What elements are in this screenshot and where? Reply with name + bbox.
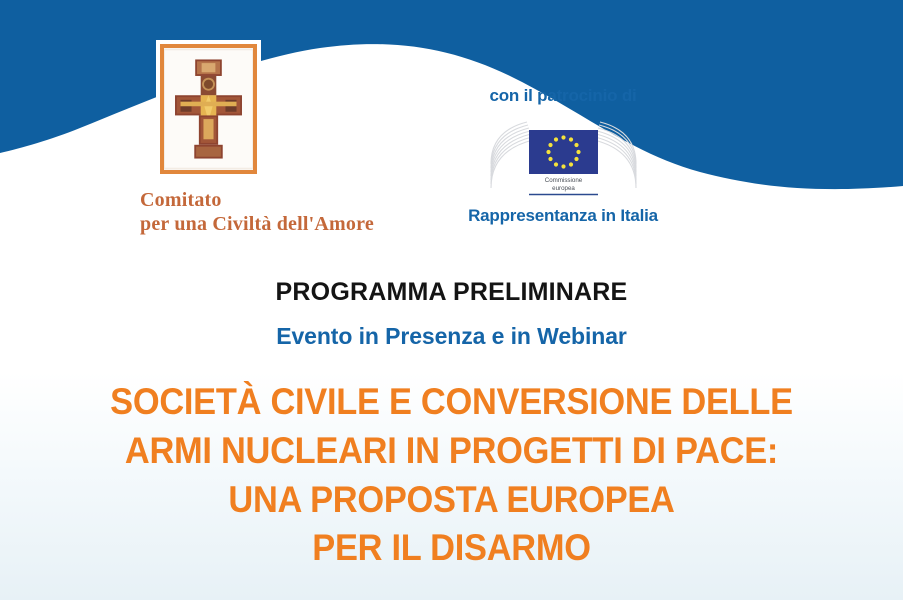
comitato-logo-block: Comitato per una Civiltà dell'Amore xyxy=(140,44,410,237)
patrocinio-label: con il patrocinio di xyxy=(448,86,678,106)
main-title: SOCIETÀ CIVILE E CONVERSIONE DELLE ARMI … xyxy=(32,378,872,573)
european-commission-logo: Commissione europea xyxy=(481,116,646,196)
patrocinio-block: con il patrocinio di xyxy=(448,86,678,226)
main-title-line-2: ARMI NUCLEARI IN PROGETTI DI PACE: xyxy=(32,427,872,476)
main-title-line-4: PER IL DISARMO xyxy=(32,524,872,573)
logos-row: Comitato per una Civiltà dell'Amore con … xyxy=(0,0,903,255)
event-poster: Comitato per una Civiltà dell'Amore con … xyxy=(0,0,903,600)
poster-text-block: PROGRAMMA PRELIMINARE Evento in Presenza… xyxy=(0,278,903,573)
crucifix-frame xyxy=(160,44,257,174)
ec-caption-line-2: europea xyxy=(552,185,575,192)
comitato-name: Comitato per una Civiltà dell'Amore xyxy=(140,188,410,237)
ec-caption-line-1: Commissione xyxy=(544,177,582,184)
eu-flag-icon xyxy=(529,130,598,174)
event-mode-subheading: Evento in Presenza e in Webinar xyxy=(0,323,903,350)
main-title-line-1: SOCIETÀ CIVILE E CONVERSIONE DELLE xyxy=(32,378,872,427)
san-damiano-crucifix-icon xyxy=(164,48,253,170)
main-title-line-3: UNA PROPOSTA EUROPEA xyxy=(32,476,872,525)
programme-heading: PROGRAMMA PRELIMINARE xyxy=(0,278,903,307)
rappresentanza-label: Rappresentanza in Italia xyxy=(448,206,678,226)
